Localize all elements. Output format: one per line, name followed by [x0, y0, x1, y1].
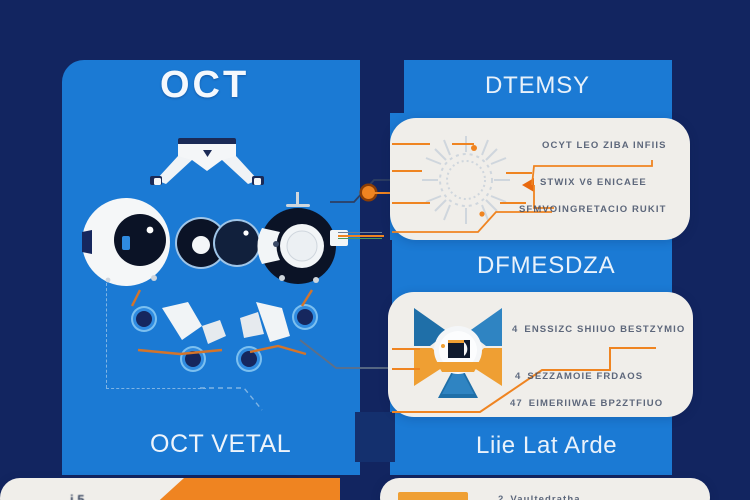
card-top-wire-1: [392, 143, 430, 145]
card-bottom-row-2: 4SEZZAMOIE FRDAOS: [515, 371, 643, 382]
footer-row-text: 2Vaultedratha: [498, 494, 581, 500]
motor-wire-upper: [338, 232, 382, 233]
dashed-boundary-vertical: [106, 283, 107, 388]
card-top-row-2: STWIX V6 ENICAEE: [534, 177, 647, 188]
white-camera-module-icon: [78, 196, 188, 288]
motor-wire-orange: [338, 235, 384, 237]
navy-notch-lower: [355, 412, 395, 462]
dashed-boundary-diagonal: [200, 380, 270, 415]
card-top-row-2-text: STWIX V6 ENICAEE: [540, 177, 647, 188]
dashed-boundary-horizontal: [106, 388, 206, 389]
card-bottom-row-2-text: SEZZAMOIE FRDAOS: [527, 371, 643, 382]
card-top-row-1: OCYT LEO ZIBA INFIIS: [536, 140, 667, 151]
right-bottom-title: Liie Lat Arde: [476, 432, 617, 460]
card-bottom-row-1-bullet: 4: [512, 324, 518, 335]
card-top-wire-3: [392, 202, 430, 204]
card-bottom-row-1-text: ENSSIZC SHIIUO BESTZYMIO: [524, 324, 685, 335]
right-middle-title: DFMESDZA: [477, 252, 615, 280]
card-top-wire-2: [392, 170, 422, 172]
card-bottom-row-3: 47EIMERIIWAE BP2ZTFIUO: [510, 398, 663, 409]
drone-body-icon: [148, 138, 276, 194]
footer-left-text: i 5: [70, 492, 84, 500]
small-lens-icon: [212, 218, 262, 268]
card-bottom-row-3-bullet: 47: [510, 398, 523, 409]
right-top-title: DTEMSY: [485, 72, 590, 100]
infographic-canvas: OCT OCT VETAL DTEMSY DFMESDZA Liie Lat A…: [0, 0, 750, 500]
page-title: OCT: [160, 64, 249, 107]
card-top-row-3: SFMVOINGRETACIO RUKIT: [513, 204, 666, 215]
card-top-wire-4: [452, 143, 474, 145]
card-bottom-row-3-text: EIMERIIWAE BP2ZTFIUO: [529, 398, 663, 409]
motor-wire-lower: [338, 238, 382, 239]
card-bottom-row-1: 4ENSSIZC SHIIUO BESTZYMIO: [512, 324, 685, 335]
footer-orange-chip[interactable]: [398, 492, 468, 500]
left-footer-title: OCT VETAL: [150, 430, 291, 459]
card-top-row-1-text: OCYT LEO ZIBA INFIIS: [542, 140, 667, 151]
navy-notch-upper: [360, 60, 404, 112]
card-top-wire-5: [506, 172, 532, 174]
card-bottom-row-2-bullet: 4: [515, 371, 521, 382]
card-top-row-3-text: SFMVOINGRETACIO RUKIT: [519, 204, 666, 215]
